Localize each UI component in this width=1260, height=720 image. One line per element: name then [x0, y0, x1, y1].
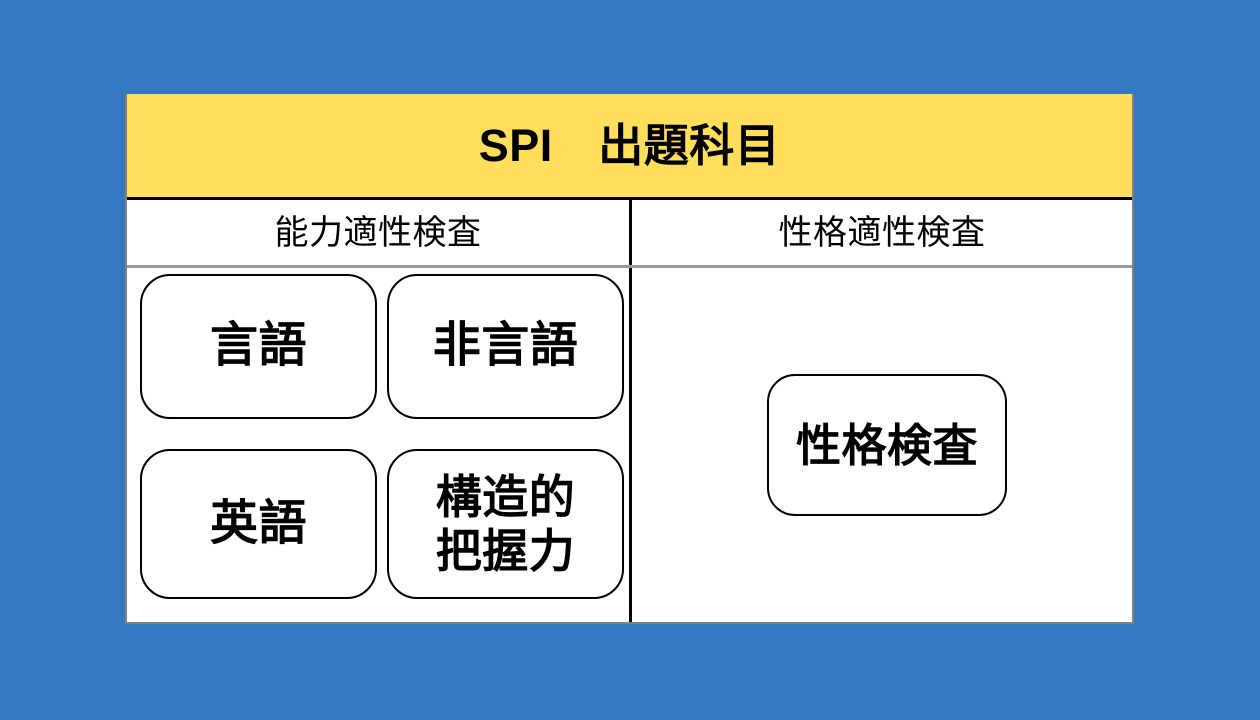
- subject-box-structural-comprehension-label: 構造的 把握力: [436, 470, 576, 579]
- subject-box-personality-label: 性格検査: [796, 423, 978, 468]
- column-header-personality: 性格適性検査: [632, 200, 1132, 265]
- structural-line-1: 構造的: [436, 471, 576, 523]
- subject-box-nonverbal[interactable]: 非言語: [387, 274, 624, 419]
- subject-box-personality[interactable]: 性格検査: [767, 374, 1007, 516]
- ability-subject-grid: 言語 非言語 英語 構造的 把握力: [140, 274, 621, 604]
- page-title: SPI 出題科目: [479, 123, 781, 168]
- table-header-row: 能力適性検査 性格適性検査: [127, 200, 1132, 268]
- subject-box-nonverbal-label: 非言語: [433, 322, 579, 371]
- table-title-banner: SPI 出題科目: [127, 94, 1132, 200]
- slide-canvas: SPI 出題科目 能力適性検査 性格適性検査 言語 非言語: [0, 0, 1260, 720]
- subject-box-english-label: 英語: [210, 500, 307, 549]
- structural-line-2: 把握力: [436, 525, 576, 577]
- subject-box-verbal-label: 言語: [210, 322, 307, 371]
- subject-box-english[interactable]: 英語: [140, 449, 377, 599]
- subject-box-structural-comprehension[interactable]: 構造的 把握力: [387, 449, 624, 599]
- column-header-personality-label: 性格適性検査: [779, 216, 986, 250]
- spi-subjects-table: SPI 出題科目 能力適性検査 性格適性検査 言語 非言語: [125, 94, 1134, 624]
- column-header-ability-label: 能力適性検査: [275, 216, 482, 250]
- subject-box-verbal[interactable]: 言語: [140, 274, 377, 419]
- ability-test-cell: 言語 非言語 英語 構造的 把握力: [127, 268, 632, 622]
- table-body-row: 言語 非言語 英語 構造的 把握力: [127, 268, 1132, 622]
- personality-test-cell: 性格検査: [632, 268, 1132, 622]
- column-header-ability: 能力適性検査: [127, 200, 632, 265]
